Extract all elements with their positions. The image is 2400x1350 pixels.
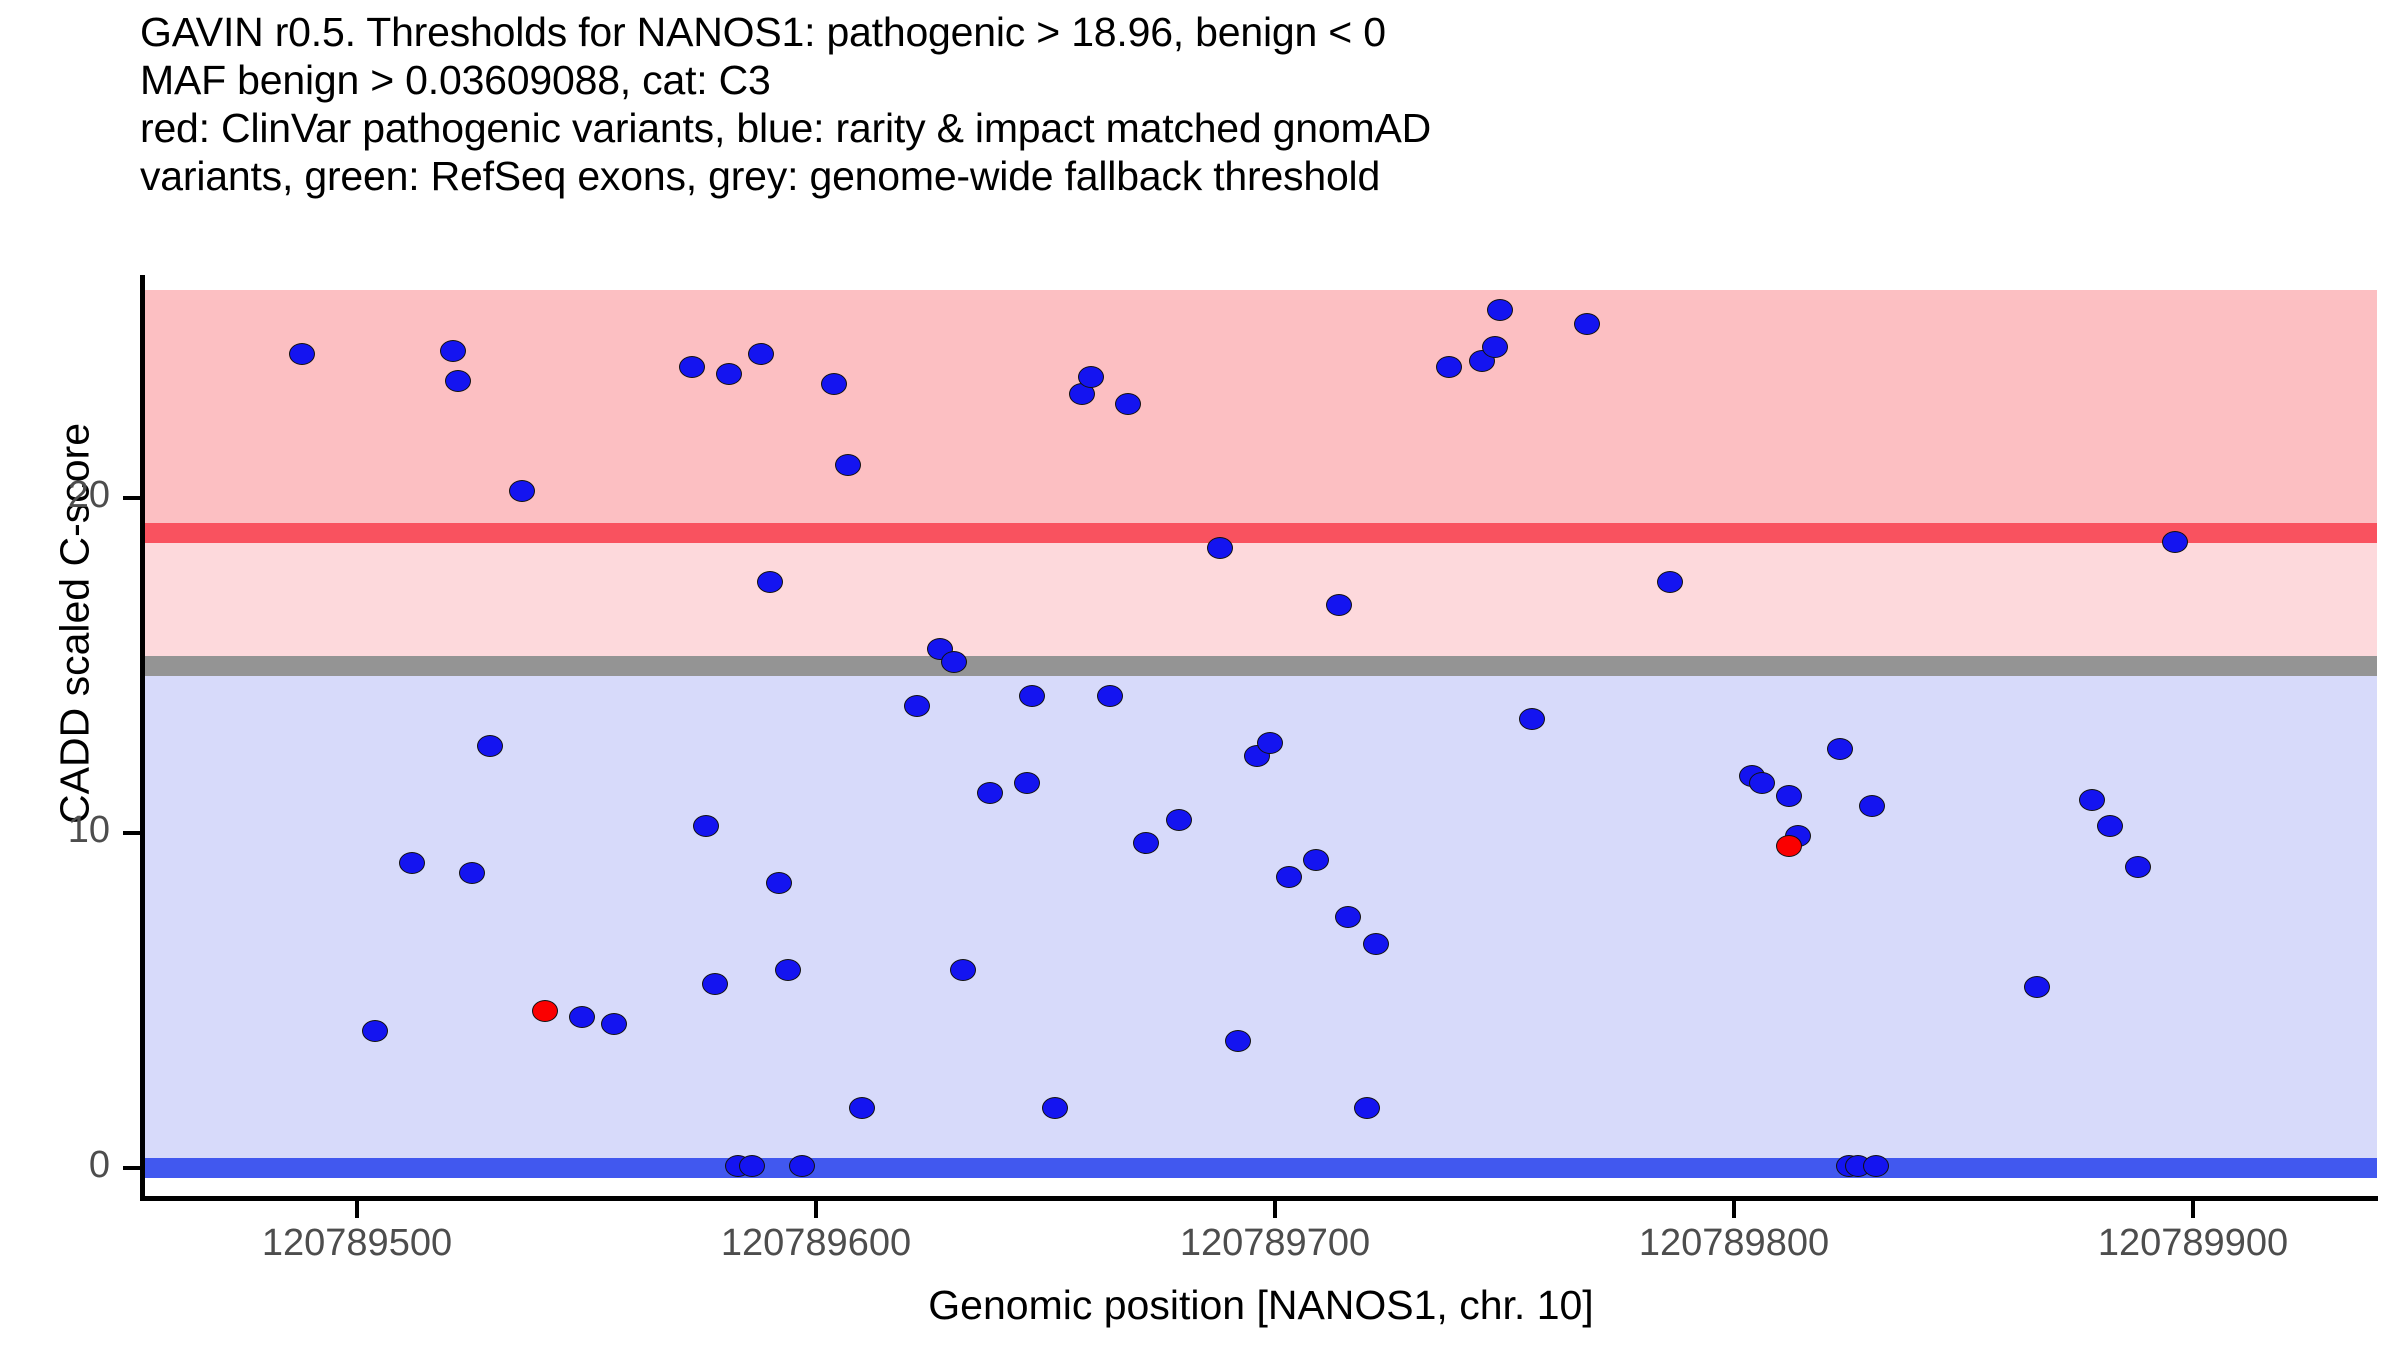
gnomad-point [459, 862, 485, 884]
gnomad-point [1335, 906, 1361, 928]
gnomad-point [2125, 856, 2151, 878]
benign-threshold-line [145, 1158, 2377, 1178]
x-tick-mark [2191, 1201, 2195, 1218]
title-line-1: GAVIN r0.5. Thresholds for NANOS1: patho… [140, 8, 2340, 56]
y-axis-title: CADD scaled C-score [52, 274, 99, 974]
gnomad-point [1354, 1097, 1380, 1119]
gnomad-point [1749, 772, 1775, 794]
gnomad-point [362, 1020, 388, 1042]
gnomad-point [1657, 571, 1683, 593]
gnomad-point [1276, 866, 1302, 888]
chart-root: GAVIN r0.5. Thresholds for NANOS1: patho… [0, 0, 2400, 1350]
title-line-3: red: ClinVar pathogenic variants, blue: … [140, 104, 2340, 152]
gnomad-point [716, 363, 742, 385]
gnomad-point [2162, 531, 2188, 553]
gnomad-point [1859, 795, 1885, 817]
gnomad-point [977, 782, 1003, 804]
x-tick-label: 120789900 [2043, 1222, 2343, 1265]
x-axis-line [140, 1196, 2378, 1201]
y-tick-mark [123, 1166, 140, 1170]
band-vus [145, 533, 2377, 666]
chart-title-block: GAVIN r0.5. Thresholds for NANOS1: patho… [140, 8, 2340, 200]
gnomad-point [1207, 537, 1233, 559]
clinvar-point [532, 1000, 558, 1022]
gnomad-point [748, 343, 774, 365]
title-line-2: MAF benign > 0.03609088, cat: C3 [140, 56, 2340, 104]
y-tick-label: 0 [0, 1144, 110, 1187]
x-tick-mark [1732, 1201, 1736, 1218]
gnomad-point [1019, 685, 1045, 707]
band-pathogenic [145, 290, 2377, 533]
x-tick-label: 120789500 [207, 1222, 507, 1265]
gnomad-point [1363, 933, 1389, 955]
gnomad-point [1225, 1030, 1251, 1052]
y-axis-line [140, 275, 145, 1201]
x-tick-mark [355, 1201, 359, 1218]
gnomad-point [1014, 772, 1040, 794]
gnomad-point [835, 454, 861, 476]
gnomad-point [1303, 849, 1329, 871]
x-axis-title: Genomic position [NANOS1, chr. 10] [145, 1282, 2377, 1329]
fallback-threshold-line [145, 656, 2377, 676]
gnomad-point [440, 340, 466, 362]
gnomad-point [1042, 1097, 1068, 1119]
gnomad-point [1257, 732, 1283, 754]
y-tick-mark [123, 831, 140, 835]
x-tick-label: 120789600 [666, 1222, 966, 1265]
plot-panel [145, 277, 2377, 1195]
x-tick-mark [1273, 1201, 1277, 1218]
gnomad-point [601, 1013, 627, 1035]
gnomad-point [477, 735, 503, 757]
gnomad-point [2024, 976, 2050, 998]
pathogenic-threshold-line [145, 523, 2377, 543]
gnomad-point [757, 571, 783, 593]
gnomad-point [739, 1155, 765, 1177]
title-line-4: variants, green: RefSeq exons, grey: gen… [140, 152, 2340, 200]
gnomad-point [849, 1097, 875, 1119]
y-tick-mark [123, 496, 140, 500]
gnomad-point [904, 695, 930, 717]
gnomad-point [693, 815, 719, 837]
gnomad-point [1097, 685, 1123, 707]
gnomad-point [702, 973, 728, 995]
gnomad-point [1827, 738, 1853, 760]
gnomad-point [1519, 708, 1545, 730]
y-tick-label: 20 [0, 474, 110, 517]
gnomad-point [1574, 313, 1600, 335]
x-tick-label: 120789700 [1125, 1222, 1425, 1265]
gnomad-point [2079, 789, 2105, 811]
x-tick-label: 120789800 [1584, 1222, 1884, 1265]
gnomad-point [941, 651, 967, 673]
gnomad-point [445, 370, 471, 392]
x-tick-mark [814, 1201, 818, 1218]
y-tick-label: 10 [0, 809, 110, 852]
gnomad-point [289, 343, 315, 365]
gnomad-point [1166, 809, 1192, 831]
gnomad-point [569, 1006, 595, 1028]
